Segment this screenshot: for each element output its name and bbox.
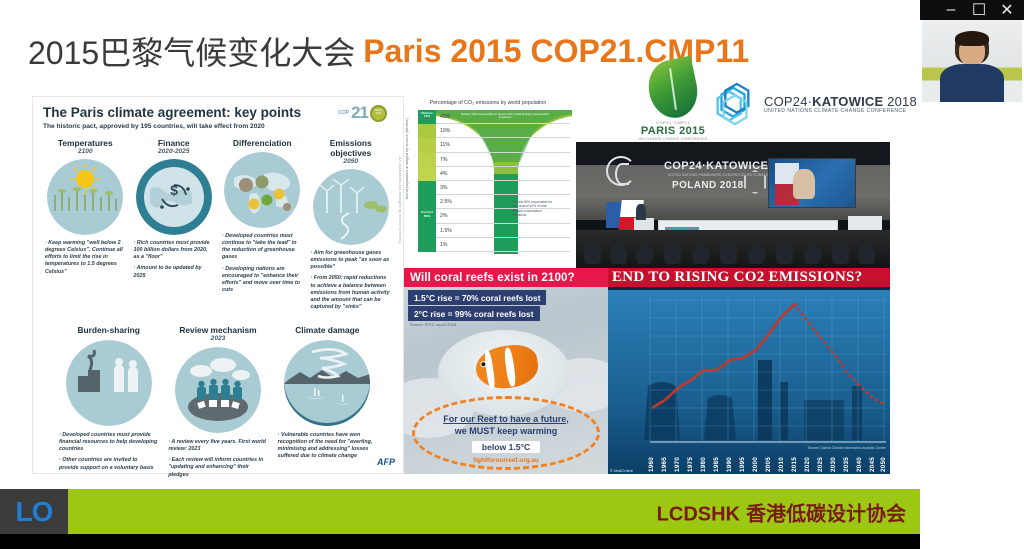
card-heading: Temperatures	[43, 138, 128, 148]
slide-title: 2015巴黎气候变化大会Paris 2015 COP21.CMP11	[28, 28, 688, 76]
card-bullet: · Each review will inform countries in "…	[168, 457, 267, 478]
co2-chart-source: Source: Carbon Dioxide Information Analy…	[808, 446, 886, 450]
decile-swatch	[418, 224, 436, 238]
co2-xtick: 1975	[687, 457, 694, 472]
funnel-value: 11%	[436, 138, 570, 152]
card-bullet: · Other countries are invited to provide…	[59, 457, 158, 471]
co2-xtick: 2010	[778, 457, 785, 472]
card-heading: Burden-sharing	[57, 325, 160, 335]
cop24-logo-subtitle: UNITED NATIONS CLIMATE CHANGE CONFERENCE	[764, 109, 917, 115]
card-bullets: · Developed countries must provide finan…	[57, 432, 160, 472]
window-controls: – ☐ ✕	[920, 0, 1024, 20]
co2-xtick: 2035	[843, 457, 850, 472]
card-heading: Climate damage	[276, 325, 379, 335]
card-bullet: · Developed countries must continue to "…	[222, 233, 303, 262]
slide-title-chinese: 2015巴黎气候变化大会	[28, 35, 355, 71]
card-date: 2100	[43, 148, 128, 155]
lo-logo-text: LO	[16, 496, 53, 528]
funnel-row: 1.5%	[418, 224, 570, 238]
co2-xtick: 2030	[830, 457, 837, 472]
card-bullet: · A review every five years. First world…	[168, 439, 267, 453]
co2-xtick: 1970	[674, 457, 681, 472]
coral-title: Will coral reefs exist in 2100?	[404, 268, 608, 287]
slide-footer-banner: LO LCDSHK香港低碳设计协会	[0, 489, 920, 534]
close-icon[interactable]: ✕	[994, 0, 1020, 20]
card-bullets: · Aim for greenhouse gases emissions to …	[309, 250, 394, 311]
funnel-group-label-top: Richest 10%	[418, 112, 436, 119]
decile-swatch	[418, 153, 436, 167]
infographic-row-2: Burden-sharing	[43, 325, 393, 483]
cop21-badge-pre: COP	[338, 111, 349, 116]
storm-boats-icon	[284, 340, 370, 426]
co2-xtick: 2020	[804, 457, 811, 472]
paris-logo-main: PARIS 2015	[636, 125, 710, 137]
photo-audience	[576, 230, 890, 268]
co2-xtick: 1985	[713, 457, 720, 472]
decile-swatch	[418, 138, 436, 152]
cop21-seal-icon: PARIS 2015	[370, 105, 387, 122]
infographic-card-climate-damage: Climate damage	[276, 325, 379, 483]
co2-xtick: 1995	[739, 457, 746, 472]
participant-video-tile[interactable]	[922, 20, 1022, 102]
decile-swatch	[418, 238, 436, 252]
card-heading: Review mechanism	[166, 325, 269, 335]
funnel-value: 1%	[436, 238, 570, 252]
co2-emissions-chart: END TO RISING CO2 EMISSIONS? Tonnes CO2/…	[608, 268, 890, 474]
co2-xtick: 2000	[752, 457, 759, 472]
infographic-subheading: The historic pact, approved by 195 count…	[43, 123, 393, 130]
co2-by-population-chart: Percentage of CO₂ emissions by world pop…	[404, 96, 572, 266]
avatar-hair	[955, 31, 989, 46]
funnel-row: 11%	[418, 138, 570, 152]
cta-pill: below 1.5°C	[472, 441, 540, 453]
card-bullet: · Amount to be updated by 2025	[134, 265, 215, 279]
co2-xtick: 2025	[817, 457, 824, 472]
paris-logo-foot: UN CLIMATE CHANGE CONFERENCE	[636, 137, 710, 141]
globe-dollar-icon: $	[136, 159, 212, 235]
coral-fact-1: 1.5°C rise = 70% coral reefs lost	[408, 290, 546, 305]
maximize-icon[interactable]: ☐	[966, 0, 992, 20]
lo-logo: LO	[0, 489, 68, 534]
coral-fact-2: 2°C rise = 99% coral reefs lost	[408, 306, 540, 321]
funnel-row: 4%	[418, 167, 570, 181]
photo-banner-sub: UNITED NATIONS FRAMEWORK CONVENTION ON C…	[668, 173, 784, 177]
infographic-card-review-mechanism: Review mechanism 2023	[166, 325, 269, 483]
meeting-table-icon	[175, 347, 261, 433]
afp-credit: AFP	[377, 457, 395, 467]
minimize-icon[interactable]: –	[938, 0, 964, 20]
card-bullet: · Aim for greenhouse gases emissions to …	[311, 250, 392, 271]
infographic-card-emissions-objectives: Emissions objectives 2050	[309, 138, 394, 315]
co2-chart-plot: Tonnes CO2/yr bn 5bn 10bn 15bn 20bn 25bn…	[608, 290, 890, 474]
card-bullets: · A review every five years. First world…	[166, 439, 269, 479]
card-bullet: · Rich countries must provide 100 billio…	[134, 240, 215, 261]
funnel-value: 7%	[436, 153, 570, 167]
avatar-body	[940, 64, 1004, 102]
video-sidebar-empty	[920, 102, 1024, 549]
slide-top-strip	[0, 0, 920, 14]
infographic-side-credit: All illustrations are arranged by income…	[398, 157, 402, 244]
funnel-annotation-top: Richest 10% responsible for almost half …	[458, 113, 552, 120]
banner-text-cn: 香港低碳设计协会	[746, 503, 906, 525]
card-bullet: · Developing nations are encouraged to "…	[222, 266, 303, 295]
photo-banner-main: COP24·KATOWICE	[664, 160, 768, 172]
cop24-logo-text: COP24·KATOWICE 2018 UNITED NATIONS CLIMA…	[764, 95, 917, 116]
card-bullets: · Vulnerable countries have won recognit…	[276, 432, 379, 461]
leaf-icon	[643, 56, 702, 123]
infographic-card-finance: Finance 2020-2025 $	[132, 138, 217, 315]
card-bullet: · Developed countries must provide finan…	[59, 432, 158, 453]
card-bullets: · Developed countries must continue to "…	[220, 233, 305, 294]
infographic-card-temperatures: Temperatures 2100	[43, 138, 128, 315]
cta-url[interactable]: fightforourreef.org.au	[418, 457, 594, 464]
cta-line-1: For our Reef to have a future,	[418, 413, 594, 425]
card-date: 2023	[166, 335, 269, 342]
card-date: 2020-2025	[132, 148, 217, 155]
cop21-badge: COP 21 PARIS 2015	[338, 103, 387, 123]
co2-xtick: 2050	[880, 457, 887, 472]
banner-text-en: LCDSHK	[657, 503, 740, 525]
card-bullet: · Vulnerable countries have won recognit…	[278, 432, 377, 461]
coral-reef-panel: Will coral reefs exist in 2100? 1.5°C ri…	[404, 268, 608, 474]
cop24-conference-photo: COP24·KATOWICE UNITED NATIONS FRAMEWORK …	[576, 142, 890, 268]
co2-chart-title: END TO RISING CO2 EMISSIONS?	[608, 268, 890, 287]
funnel-value: 4%	[436, 167, 570, 181]
cop24-logo-title: COP24·KATOWICE 2018	[764, 95, 917, 110]
paris-2015-logo: COP21·CMP11 PARIS 2015 UN CLIMATE CHANGE…	[636, 60, 710, 142]
card-heading: Finance	[132, 138, 217, 148]
presentation-slide: 2015巴黎气候变化大会Paris 2015 COP21.CMP11 COP21…	[0, 0, 920, 549]
funnel-value: 19%	[436, 124, 570, 138]
co2-xtick: 2015	[791, 457, 798, 472]
unfccc-logo-icon	[606, 156, 636, 186]
card-bullet: · From 2050: rapid reductions to achieve…	[311, 275, 392, 311]
funnel-row: 3%	[418, 181, 570, 195]
factory-people-icon	[66, 340, 152, 426]
co2-xtick: 2005	[765, 457, 772, 472]
funnel-chart-ylabel: World population arranged by income (dec…	[405, 118, 409, 199]
coral-source: Source: IPCC report 2018	[410, 322, 456, 327]
infographic-card-differenciation: Differenciation	[220, 138, 305, 315]
banner-organisation-name: LCDSHK香港低碳设计协会	[657, 497, 906, 526]
card-bullet: · Keep warming "well below 2 degrees Cel…	[45, 240, 126, 276]
cop24-katowice-logo: COP24·KATOWICE 2018 UNITED NATIONS CLIMA…	[710, 78, 892, 132]
cop21-badge-number: 21	[351, 103, 368, 123]
co2-xtick: 2040	[856, 457, 863, 472]
funnel-value: 3%	[436, 181, 570, 195]
card-heading: Emissions objectives	[309, 138, 394, 158]
co2-xtick: 1960	[648, 457, 655, 472]
co2-xtick: 1980	[700, 457, 707, 472]
video-sidebar: – ☐ ✕	[920, 0, 1024, 549]
coral-call-to-action: For our Reef to have a future, we MUST k…	[418, 413, 594, 464]
infographic-row-1: Temperatures 2100	[43, 138, 393, 315]
funnel-chart-title: Percentage of CO₂ emissions by world pop…	[404, 96, 572, 106]
card-date: 2050	[309, 158, 394, 165]
sun-plants-icon	[47, 159, 123, 235]
hexagon-icon	[710, 81, 756, 129]
funnel-row: 1%	[418, 238, 570, 252]
world-map-icon	[224, 152, 300, 228]
decile-swatch	[418, 167, 436, 181]
paris-agreement-infographic: The Paris climate agreement: key points …	[32, 96, 404, 474]
decile-swatch	[418, 181, 436, 195]
wind-turbines-icon	[313, 169, 389, 245]
slide-bottom-strip	[0, 534, 920, 549]
card-bullets: · Keep warming "well below 2 degrees Cel…	[43, 240, 128, 276]
infographic-card-burden-sharing: Burden-sharing	[57, 325, 160, 483]
photo-big-screen	[768, 158, 856, 208]
funnel-row: 19%	[418, 124, 570, 138]
co2-xtick: 1990	[726, 457, 733, 472]
card-bullets: · Rich countries must provide 100 billio…	[132, 240, 217, 280]
co2-xtick: 1965	[661, 457, 668, 472]
decile-swatch	[418, 124, 436, 138]
cta-line-2: we MUST keep warming	[418, 425, 594, 437]
card-heading: Differenciation	[220, 138, 305, 148]
photo-banner-country: POLAND 2018	[672, 180, 744, 191]
funnel-annotation-bottom: Poorest 50% responsible for only around …	[512, 200, 556, 217]
funnel-rows: Richest 10% 49% 19% 11% 7% 4% 3%	[418, 110, 570, 264]
funnel-value: 1.5%	[436, 224, 570, 238]
funnel-group-label-bottom: Poorest 50%	[418, 211, 436, 218]
co2-chart-credit: © MailOnline	[610, 468, 633, 473]
funnel-row: 7%	[418, 153, 570, 167]
photo-speaker	[636, 204, 646, 220]
co2-xtick: 2045	[869, 457, 876, 472]
decile-swatch	[418, 195, 436, 209]
